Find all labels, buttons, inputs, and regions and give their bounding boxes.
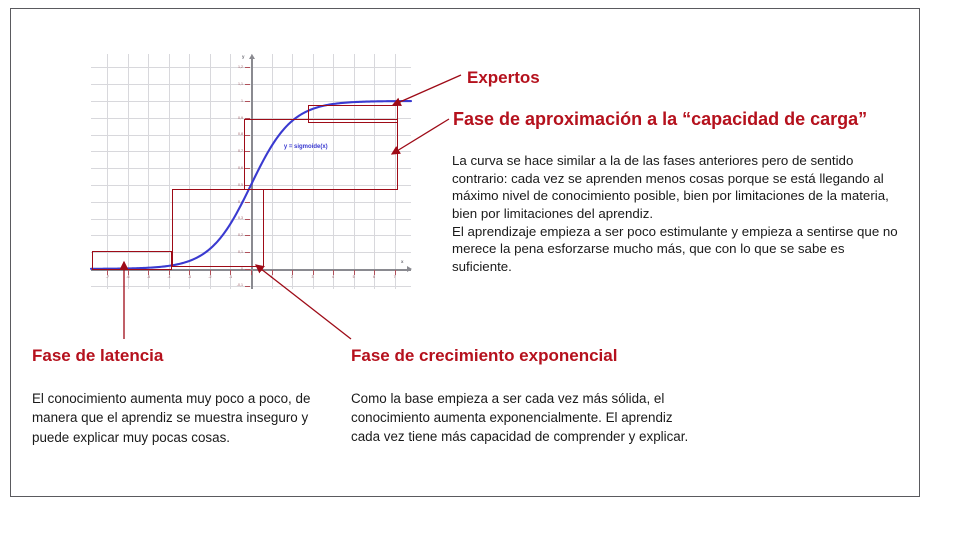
text-aproximacion: La curva se hace similar a la de las fas…: [452, 152, 904, 276]
slide-frame: -7-6-5-4-3-2-11234567-0,100,10,20,30,40,…: [10, 8, 920, 497]
highlight-box-latencia[interactable]: [92, 251, 172, 270]
text-exponencial: Como la base empieza a ser cada vez más …: [351, 389, 691, 446]
text-latencia-p1: El conocimiento aumenta muy poco a poco,…: [32, 389, 322, 447]
text-aproximacion-p1: La curva se hace similar a la de las fas…: [452, 152, 904, 223]
highlight-box-exponencial[interactable]: [172, 189, 264, 267]
text-exponencial-p1: Como la base empieza a ser cada vez más …: [351, 389, 691, 446]
text-latencia: El conocimiento aumenta muy poco a poco,…: [32, 389, 322, 447]
highlight-box-aproximacion[interactable]: [244, 119, 398, 190]
heading-exponencial: Fase de crecimiento exponencial: [351, 346, 617, 366]
heading-aproximacion: Fase de aproximación a la “capacidad de …: [453, 109, 867, 130]
highlight-box-expertos[interactable]: [308, 105, 398, 123]
heading-expertos: Expertos: [467, 68, 540, 88]
text-aproximacion-p2: El aprendizaje empieza a ser poco estimu…: [452, 223, 904, 276]
heading-latencia: Fase de latencia: [32, 346, 163, 366]
